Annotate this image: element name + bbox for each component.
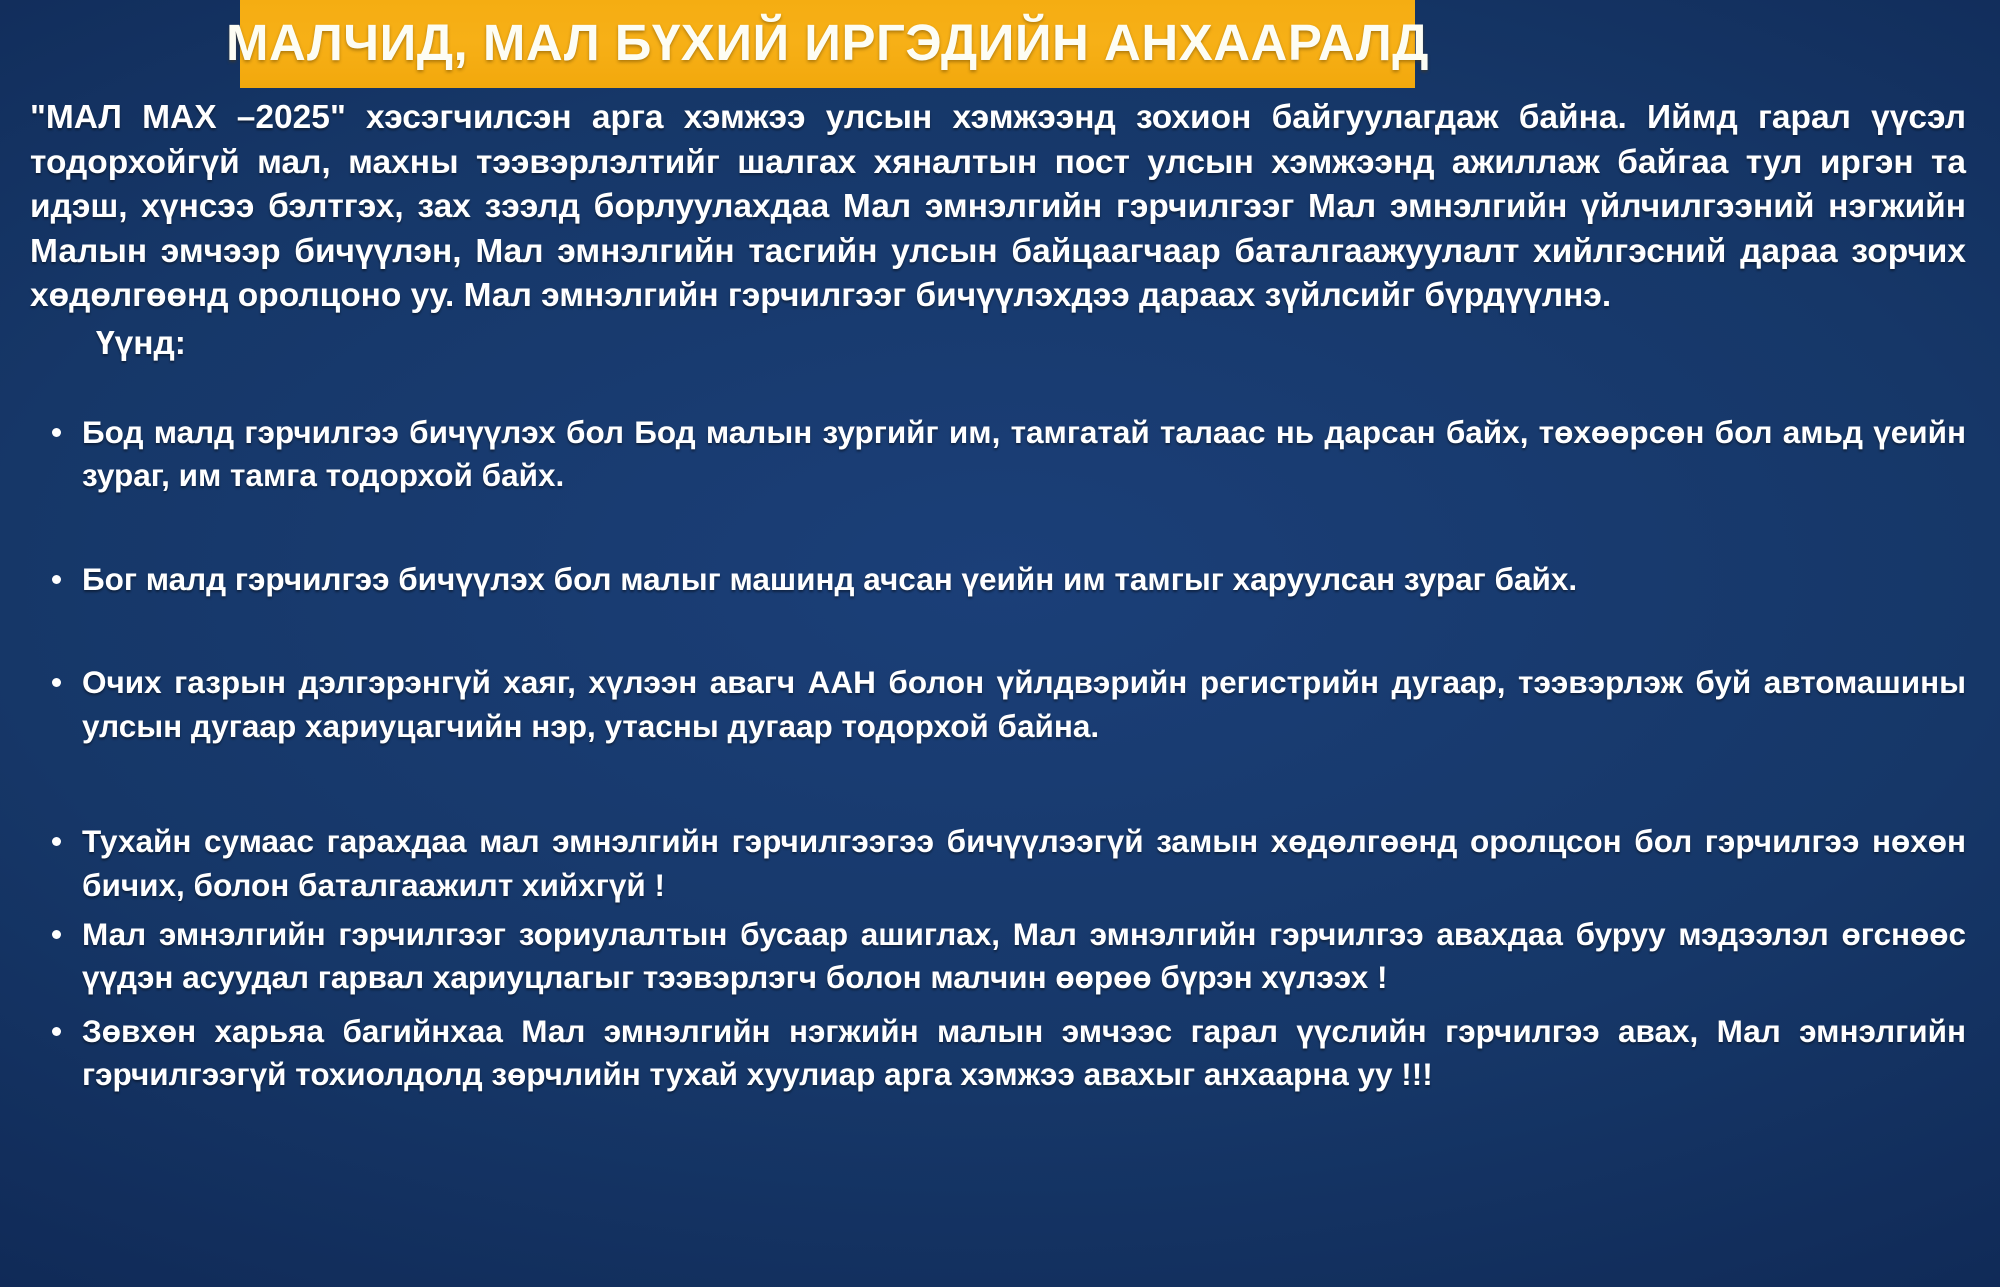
- intro-paragraph: "МАЛ МАХ –2025" хэсэгчилсэн арга хэмжээ …: [30, 96, 1966, 319]
- poster-body: "МАЛ МАХ –2025" хэсэгчилсэн арга хэмжээ …: [0, 96, 2000, 1097]
- requirements-list: Бод малд гэрчилгээ бичүүлэх бол Бод малы…: [30, 411, 1966, 1097]
- list-item: Очих газрын дэлгэрэнгүй хаяг, хүлээн ава…: [30, 661, 1966, 748]
- page-title: МАЛЧИД, МАЛ БҮХИЙ ИРГЭДИЙН АНХААРАЛД: [226, 17, 1429, 72]
- header-banner: МАЛЧИД, МАЛ БҮХИЙ ИРГЭДИЙН АНХААРАЛД: [240, 0, 1415, 88]
- list-item: Мал эмнэлгийн гэрчилгээг зориулалтын бус…: [30, 913, 1966, 1000]
- uund-label: Үүнд:: [96, 325, 1966, 363]
- list-item: Бог малд гэрчилгээ бичүүлэх бол малыг ма…: [30, 558, 1966, 601]
- list-item: Зөвхөн харьяа багийнхаа Мал эмнэлгийн нэ…: [30, 1010, 1966, 1097]
- list-item: Бод малд гэрчилгээ бичүүлэх бол Бод малы…: [30, 411, 1966, 498]
- list-item: Тухайн сумаас гарахдаа мал эмнэлгийн гэр…: [30, 820, 1966, 907]
- announcement-poster: МАЛЧИД, МАЛ БҮХИЙ ИРГЭДИЙН АНХААРАЛД "МА…: [0, 0, 2000, 1287]
